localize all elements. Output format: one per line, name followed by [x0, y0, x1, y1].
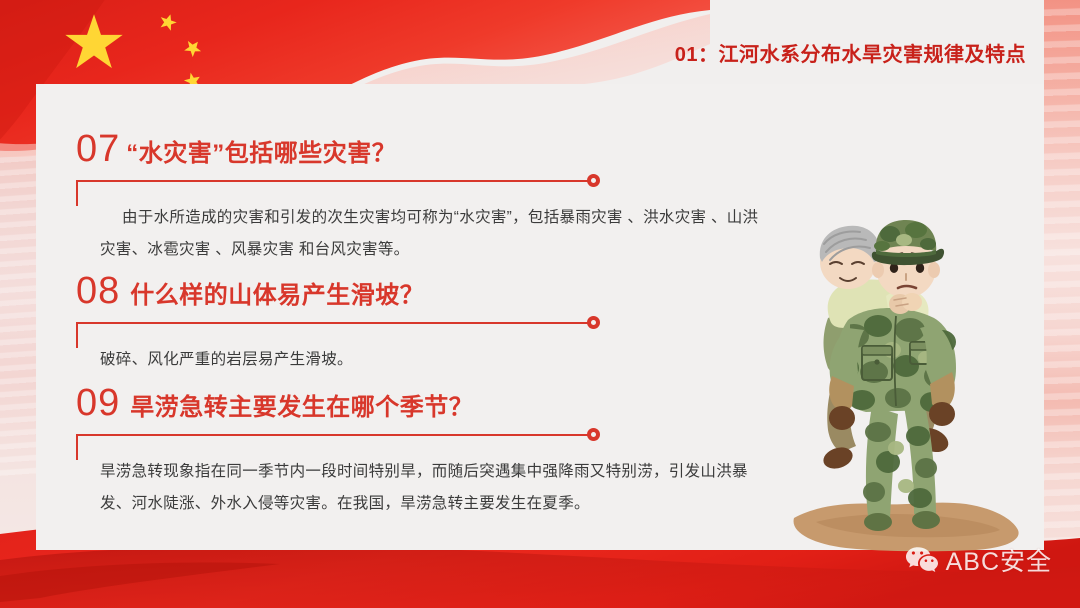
bracket-rule: [76, 322, 594, 324]
qa-number: 08: [76, 272, 120, 310]
qa-block-09: 09 旱涝急转主要发生在哪个季节？ 旱涝急转现象指在同一季节内一段时间特别旱，而…: [76, 384, 776, 520]
qa-heading: 07 “水灾害”包括哪些灾害？: [76, 130, 776, 168]
qa-question: 旱涝急转主要发生在哪个季节？: [130, 396, 473, 420]
qa-heading: 08 什么样的山体易产生滑坡？: [76, 272, 776, 310]
qa-answer: 旱涝急转现象指在同一季节内一段时间特别旱，而随后突遇集中强降雨又特别涝，引发山洪…: [76, 456, 760, 520]
bracket-end-dot-icon: [587, 316, 600, 329]
bracket-rule: [76, 180, 594, 182]
qa-question: “水灾害”包括哪些灾害？: [126, 142, 396, 166]
qa-question: 什么样的山体易产生滑坡？: [130, 284, 424, 308]
bracket-stub: [76, 322, 78, 348]
qa-answer: 破碎、风化严重的岩层易产生滑坡。: [76, 344, 760, 376]
content-card: 07 “水灾害”包括哪些灾害？ 由于水所造成的灾害和引发的次生灾害均可称为“水灾…: [36, 84, 1044, 550]
bracket-stub: [76, 434, 78, 460]
qa-bracket: [76, 434, 776, 460]
bracket-rule: [76, 434, 594, 436]
qa-bracket: [76, 180, 776, 206]
qa-heading: 09 旱涝急转主要发生在哪个季节？: [76, 384, 776, 422]
qa-answer: 由于水所造成的灾害和引发的次生灾害均可称为“水灾害”，包括暴雨灾害 、洪水灾害 …: [76, 202, 760, 266]
bracket-stub: [76, 180, 78, 206]
qa-block-08: 08 什么样的山体易产生滑坡？ 破碎、风化严重的岩层易产生滑坡。: [76, 272, 776, 376]
qa-block-07: 07 “水灾害”包括哪些灾害？ 由于水所造成的灾害和引发的次生灾害均可称为“水灾…: [76, 130, 776, 266]
bracket-end-dot-icon: [587, 174, 600, 187]
qa-bracket: [76, 322, 776, 348]
right-watercolor-wash: [1044, 0, 1080, 608]
page-title: 01：江河水系分布水旱灾害规律及特点: [675, 38, 1026, 67]
qa-number: 09: [76, 384, 120, 422]
bracket-end-dot-icon: [587, 428, 600, 441]
qa-number: 07: [76, 130, 120, 168]
slide-canvas: 01：江河水系分布水旱灾害规律及特点 07 “水灾害”包括哪些灾害？ 由于水所造…: [0, 0, 1080, 608]
